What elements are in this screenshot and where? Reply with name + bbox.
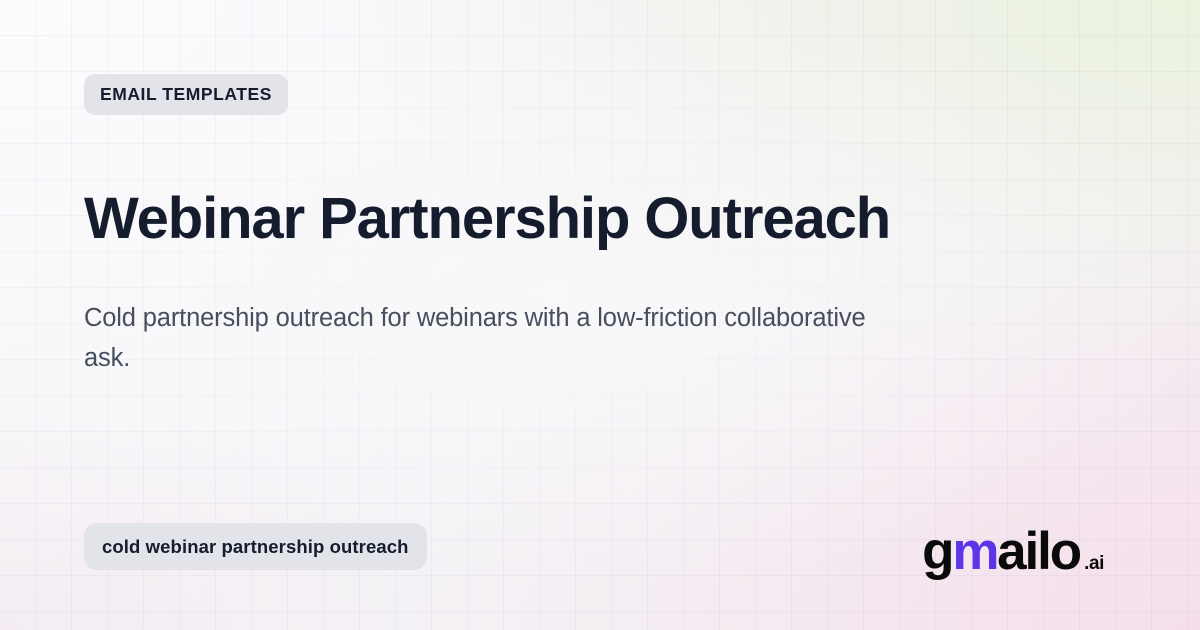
keyword-badge: cold webinar partnership outreach xyxy=(84,523,427,570)
page-subtitle: Cold partnership outreach for webinars w… xyxy=(84,298,874,378)
brand-logo-part-two: ailo xyxy=(997,525,1080,578)
brand-logo-tld: .ai xyxy=(1084,554,1104,573)
page-title: Webinar Partnership Outreach xyxy=(84,188,984,251)
brand-logo-accent-letter-m: m xyxy=(952,525,997,578)
card-content: EMAIL TEMPLATES Webinar Partnership Outr… xyxy=(0,0,1200,630)
og-card: EMAIL TEMPLATES Webinar Partnership Outr… xyxy=(0,0,1200,630)
brand-logo: g m ailo .ai xyxy=(922,525,1104,578)
brand-logo-part-one: g xyxy=(922,525,952,578)
eyebrow-badge: EMAIL TEMPLATES xyxy=(84,74,288,115)
brand-logo-wordmark: g m ailo xyxy=(922,525,1080,578)
